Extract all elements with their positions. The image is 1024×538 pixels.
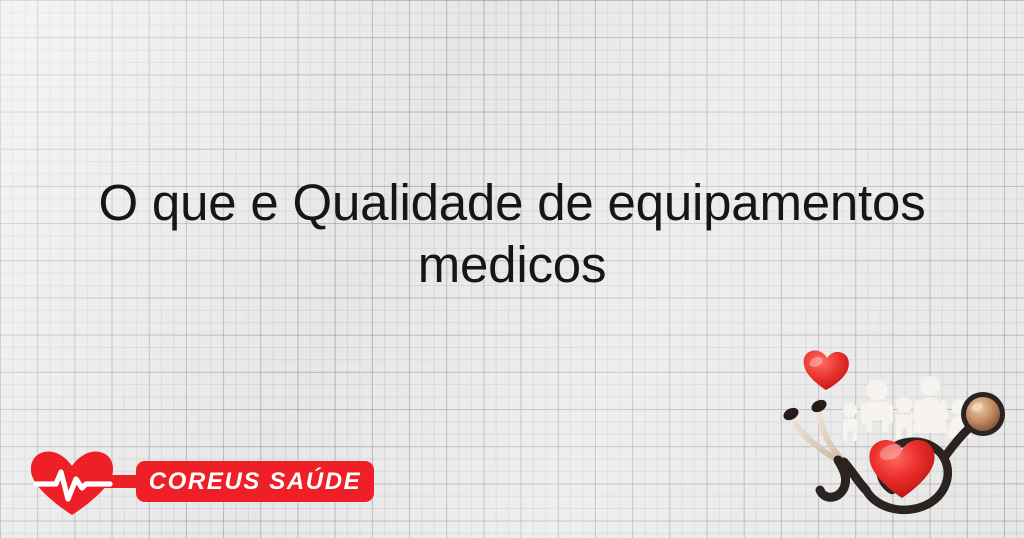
heart-pulse-icon	[28, 450, 116, 516]
family-silhouette-icon	[843, 376, 971, 441]
brand-badge: COREUS SAÚDE	[136, 461, 374, 502]
page-title-line-1: O que e Qualidade de equipamentos	[40, 172, 984, 234]
brand-name-text: COREUS SAÚDE	[149, 468, 362, 496]
brand-logo[interactable]: COREUS SAÚDE	[28, 448, 348, 516]
large-red-heart-icon	[869, 440, 934, 498]
page-title: O que e Qualidade de equipamentos medico…	[40, 172, 984, 296]
stethoscope-chestpiece	[961, 392, 1005, 436]
small-red-heart-icon	[804, 350, 849, 390]
medical-artwork	[778, 348, 1024, 538]
page-title-line-2: medicos	[40, 234, 984, 296]
slide-canvas: O que e Qualidade de equipamentos medico…	[0, 0, 1024, 538]
